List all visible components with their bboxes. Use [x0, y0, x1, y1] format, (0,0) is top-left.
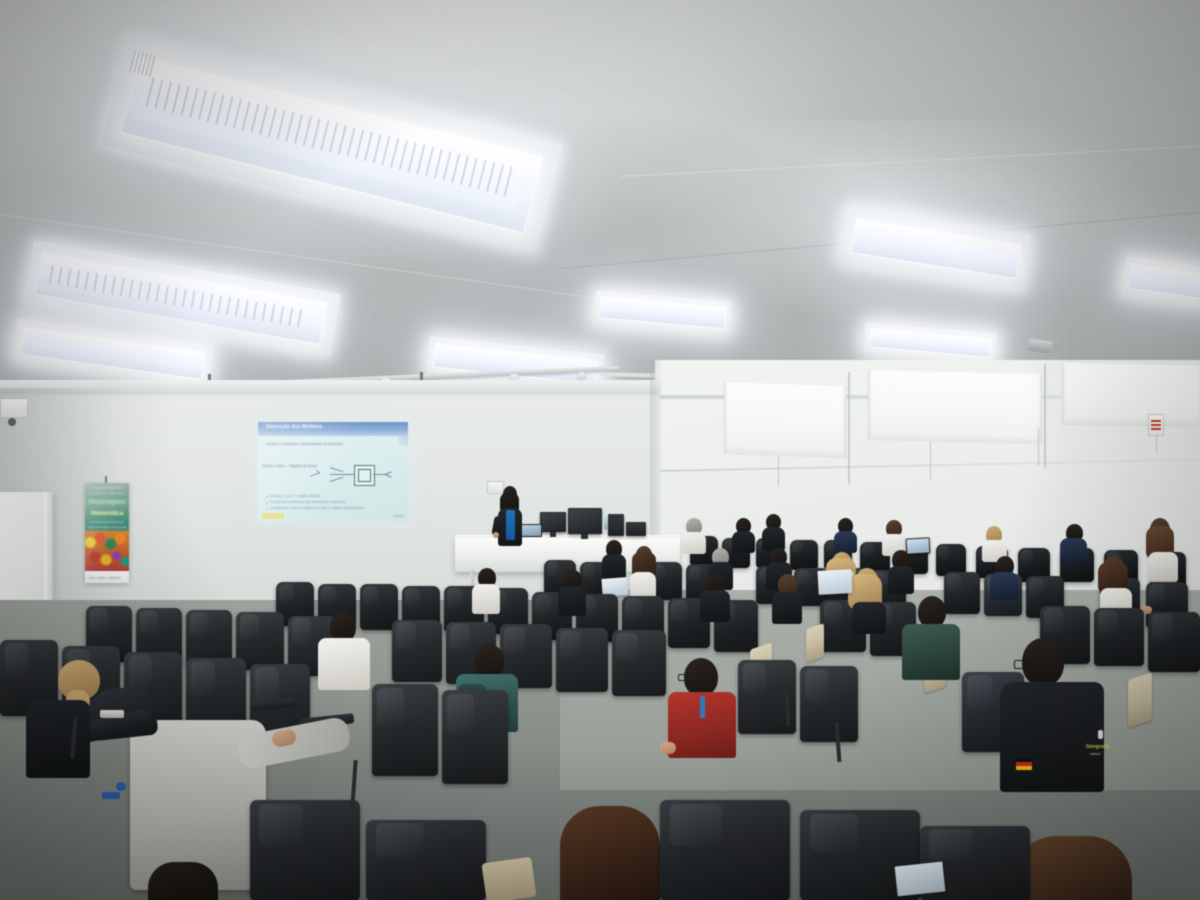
- window-frame: [1044, 364, 1046, 468]
- audience-torso: [558, 586, 586, 616]
- chair[interactable]: [1094, 608, 1144, 666]
- monitor-stand: [550, 532, 556, 537]
- person-ponytail-shoulder: [26, 700, 90, 778]
- ceiling-speaker: [1027, 339, 1052, 353]
- audience-torso: [902, 624, 960, 680]
- person-foreground-head: [148, 862, 218, 900]
- audience-torso: [472, 584, 500, 614]
- roller-blind[interactable]: [868, 370, 1042, 444]
- chair[interactable]: [612, 630, 666, 696]
- chair[interactable]: [366, 820, 486, 900]
- auditorium-photo: Encontro Nacional de Educação Matemática…: [0, 0, 1200, 900]
- jacket-logo-text: Geografia: [1086, 744, 1109, 750]
- wall-panel-edge: [44, 492, 54, 600]
- german-flag-patch: [1016, 758, 1032, 770]
- audience-lanyard: [700, 696, 705, 718]
- audience-torso: [762, 527, 785, 551]
- person-foreground-head: [1012, 836, 1132, 900]
- water-bottle: [604, 516, 608, 530]
- wall-control-box[interactable]: [0, 398, 28, 418]
- presenter-scarf: [506, 510, 515, 540]
- chair[interactable]: [392, 620, 442, 682]
- chair[interactable]: [1148, 612, 1200, 672]
- monitor-stand: [581, 534, 588, 539]
- audience-torso: [852, 602, 886, 634]
- audience-glasses: [1014, 660, 1032, 669]
- blind-cord[interactable]: [1038, 428, 1039, 466]
- poster-glare: [85, 483, 129, 583]
- chair[interactable]: [556, 628, 608, 692]
- roller-blind[interactable]: [724, 382, 846, 458]
- chair-tablet-arm[interactable]: [806, 623, 824, 663]
- jacket-logo-subtext: UFRGS: [1090, 752, 1101, 756]
- blind-cord[interactable]: [930, 442, 931, 480]
- chair[interactable]: [790, 540, 818, 570]
- audience-torso: [834, 531, 857, 553]
- person-foreground-head: [560, 806, 660, 900]
- audience-torso: [772, 592, 802, 624]
- audience-laptop[interactable]: [817, 569, 852, 595]
- audience-laptop[interactable]: [895, 862, 946, 897]
- audience-torso: [1060, 538, 1087, 564]
- emergency-exit-sign: [1148, 414, 1164, 436]
- hoodie-zip-pull: [116, 782, 126, 791]
- chair-tablet-arm[interactable]: [481, 857, 536, 900]
- audience-torso: [888, 566, 914, 594]
- audience-laptop[interactable]: [906, 537, 931, 554]
- audience-head: [474, 644, 504, 678]
- audience-torso: [990, 572, 1018, 600]
- monitor: [568, 508, 602, 534]
- audience-hand: [660, 742, 676, 754]
- jacket-emblem: [1098, 730, 1103, 739]
- roller-blind[interactable]: [1062, 363, 1200, 427]
- hoodie-zip-pull: [102, 792, 120, 799]
- equipment-box: [626, 522, 646, 536]
- audience-torso: [602, 554, 626, 580]
- projected-slide: Descrição dos Modelos Modelos e parâmetr…: [258, 422, 408, 522]
- chair[interactable]: [250, 800, 360, 900]
- audience-glasses: [678, 674, 692, 681]
- chair-tablet-arm[interactable]: [1128, 672, 1152, 728]
- wall-mount-bracket: [8, 418, 16, 426]
- cap-logo: [100, 710, 124, 718]
- desktop-tower: [608, 514, 624, 536]
- presenter-laptop[interactable]: [520, 524, 542, 537]
- chair[interactable]: [372, 684, 438, 776]
- chair[interactable]: [944, 572, 980, 614]
- audience-torso: [732, 531, 755, 553]
- audience-torso: [1148, 552, 1178, 582]
- chair[interactable]: [660, 800, 790, 900]
- audience-torso: [682, 532, 706, 554]
- audience-torso: [318, 638, 370, 690]
- chair[interactable]: [442, 690, 508, 784]
- monitor: [540, 512, 566, 532]
- blind-cord[interactable]: [778, 456, 779, 486]
- audience-torso: [1000, 682, 1104, 792]
- audience-torso: [700, 590, 730, 622]
- wall-plate: [487, 481, 504, 494]
- chair[interactable]: [800, 666, 858, 742]
- presenter-hand: [493, 532, 499, 538]
